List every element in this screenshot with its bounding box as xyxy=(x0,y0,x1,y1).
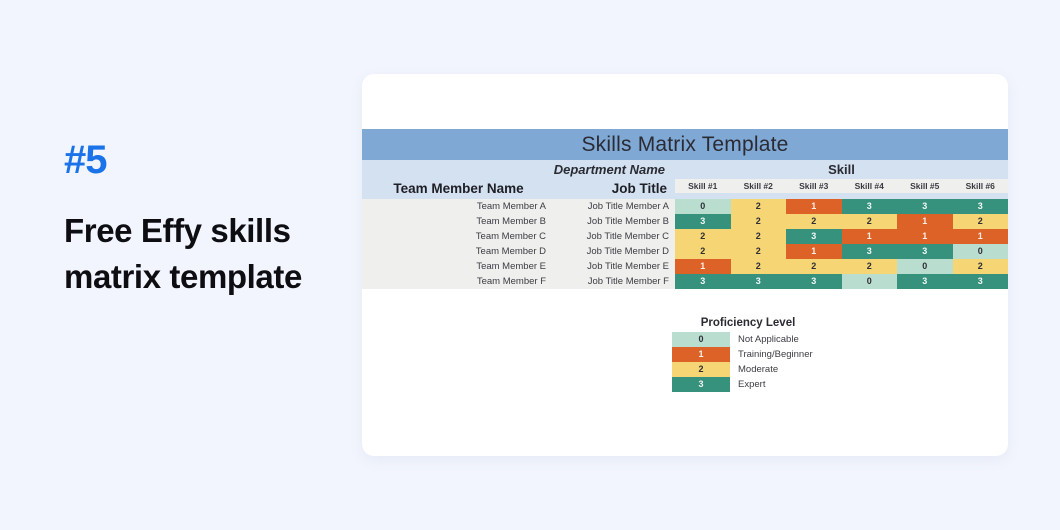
skill-score-cells: 322212 xyxy=(675,214,1008,229)
skill-group-label: Skill xyxy=(675,160,1008,179)
skill-score-cells: 333033 xyxy=(675,274,1008,289)
member-name-cell: Team Member F xyxy=(362,274,555,289)
skill-score-cell[interactable]: 3 xyxy=(897,199,953,214)
skill-score-cell[interactable]: 2 xyxy=(731,199,787,214)
skill-score-cells: 021333 xyxy=(675,199,1008,214)
member-name-cell: Team Member E xyxy=(362,259,555,274)
skill-score-cell[interactable]: 2 xyxy=(731,259,787,274)
skill-score-cell[interactable]: 2 xyxy=(675,229,731,244)
skill-score-cell[interactable]: 2 xyxy=(953,259,1009,274)
skill-score-cell[interactable]: 2 xyxy=(786,214,842,229)
skill-score-cell[interactable]: 2 xyxy=(842,259,898,274)
skill-column-header: Skill #4 xyxy=(842,179,898,193)
skill-score-cell[interactable]: 2 xyxy=(731,229,787,244)
legend-item: 3Expert xyxy=(672,377,852,392)
legend-swatch: 2 xyxy=(672,362,730,377)
skill-score-cell[interactable]: 0 xyxy=(842,274,898,289)
skill-score-cells: 223111 xyxy=(675,229,1008,244)
member-name-cell: Team Member B xyxy=(362,214,555,229)
skill-column-header: Skill #3 xyxy=(786,179,842,193)
skill-column-header: Skill #1 xyxy=(675,179,731,193)
member-name-cell: Team Member D xyxy=(362,244,555,259)
job-title-cell: Job Title Member C xyxy=(555,229,675,244)
skill-score-cell[interactable]: 3 xyxy=(842,199,898,214)
skill-score-cell[interactable]: 3 xyxy=(953,199,1009,214)
skill-score-cell[interactable]: 2 xyxy=(731,214,787,229)
skill-score-cell[interactable]: 3 xyxy=(842,244,898,259)
skill-score-cell[interactable]: 0 xyxy=(953,244,1009,259)
sheet-subheader-row: Department Name Skill xyxy=(362,160,1008,179)
legend-title: Proficiency Level xyxy=(672,317,852,329)
table-row[interactable]: Team Member EJob Title Member E122202 xyxy=(362,259,1008,274)
legend-label: Expert xyxy=(730,377,765,392)
skill-score-cell[interactable]: 1 xyxy=(897,214,953,229)
column-header-job: Job Title xyxy=(555,179,675,199)
department-name-label: Department Name xyxy=(362,160,675,179)
skill-score-cell[interactable]: 3 xyxy=(731,274,787,289)
promo-title: Free Effy skills matrix template xyxy=(64,208,324,300)
member-name-cell: Team Member C xyxy=(362,229,555,244)
skill-score-cell[interactable]: 1 xyxy=(786,199,842,214)
skill-column-headers: Skill #1 Skill #2 Skill #3 Skill #4 Skil… xyxy=(675,179,1008,193)
column-header-name: Team Member Name xyxy=(362,179,555,199)
member-name-cell: Team Member A xyxy=(362,199,555,214)
skill-column-header: Skill #5 xyxy=(897,179,953,193)
promo-panel: #5 Free Effy skills matrix template xyxy=(64,140,324,300)
legend-swatch: 3 xyxy=(672,377,730,392)
skill-score-cell[interactable]: 0 xyxy=(675,199,731,214)
table-row[interactable]: Team Member FJob Title Member F333033 xyxy=(362,274,1008,289)
skill-score-cell[interactable]: 3 xyxy=(786,274,842,289)
skill-score-cells: 122202 xyxy=(675,259,1008,274)
legend-label: Not Applicable xyxy=(730,332,799,347)
skill-score-cell[interactable]: 3 xyxy=(675,214,731,229)
sheet-column-header-row: Team Member Name Job Title Skill #1 Skil… xyxy=(362,179,1008,199)
skill-score-cell[interactable]: 0 xyxy=(897,259,953,274)
legend-swatch: 0 xyxy=(672,332,730,347)
skill-score-cell[interactable]: 1 xyxy=(897,229,953,244)
legend-rows: 0Not Applicable1Training/Beginner2Modera… xyxy=(672,332,852,392)
skill-score-cell[interactable]: 3 xyxy=(897,274,953,289)
skill-score-cell[interactable]: 3 xyxy=(897,244,953,259)
skill-score-cell[interactable]: 2 xyxy=(731,244,787,259)
skills-matrix-sheet: Skills Matrix Template Department Name S… xyxy=(362,129,1008,289)
table-row[interactable]: Team Member AJob Title Member A021333 xyxy=(362,199,1008,214)
skill-score-cell[interactable]: 3 xyxy=(953,274,1009,289)
table-row[interactable]: Team Member DJob Title Member D221330 xyxy=(362,244,1008,259)
job-title-cell: Job Title Member B xyxy=(555,214,675,229)
skill-column-header: Skill #6 xyxy=(953,179,1009,193)
skill-score-cell[interactable]: 2 xyxy=(786,259,842,274)
table-row[interactable]: Team Member CJob Title Member C223111 xyxy=(362,229,1008,244)
legend-label: Training/Beginner xyxy=(730,347,813,362)
skill-score-cell[interactable]: 3 xyxy=(786,229,842,244)
legend-label: Moderate xyxy=(730,362,778,377)
skill-score-cell[interactable]: 1 xyxy=(953,229,1009,244)
skill-score-cell[interactable]: 2 xyxy=(842,214,898,229)
skill-score-cell[interactable]: 2 xyxy=(953,214,1009,229)
proficiency-legend: Proficiency Level 0Not Applicable1Traini… xyxy=(672,317,852,392)
table-row[interactable]: Team Member BJob Title Member B322212 xyxy=(362,214,1008,229)
legend-item: 0Not Applicable xyxy=(672,332,852,347)
job-title-cell: Job Title Member F xyxy=(555,274,675,289)
skill-score-cells: 221330 xyxy=(675,244,1008,259)
skill-score-cell[interactable]: 1 xyxy=(675,259,731,274)
matrix-rows: Team Member AJob Title Member A021333Tea… xyxy=(362,199,1008,289)
legend-swatch: 1 xyxy=(672,347,730,362)
job-title-cell: Job Title Member E xyxy=(555,259,675,274)
job-title-cell: Job Title Member D xyxy=(555,244,675,259)
promo-rank: #5 xyxy=(64,140,324,180)
job-title-cell: Job Title Member A xyxy=(555,199,675,214)
skill-score-cell[interactable]: 3 xyxy=(675,274,731,289)
skill-score-cell[interactable]: 2 xyxy=(675,244,731,259)
skill-score-cell[interactable]: 1 xyxy=(842,229,898,244)
legend-item: 1Training/Beginner xyxy=(672,347,852,362)
template-preview-card: Skills Matrix Template Department Name S… xyxy=(362,74,1008,456)
sheet-title: Skills Matrix Template xyxy=(362,129,1008,160)
skill-score-cell[interactable]: 1 xyxy=(786,244,842,259)
skill-column-header: Skill #2 xyxy=(731,179,787,193)
legend-item: 2Moderate xyxy=(672,362,852,377)
